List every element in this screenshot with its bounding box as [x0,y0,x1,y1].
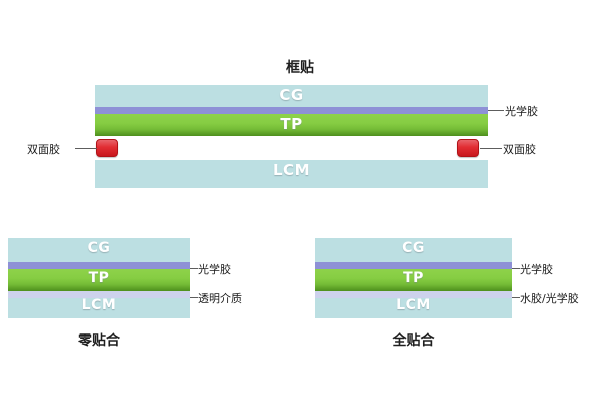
frame-layer-lcm [95,160,488,188]
leader-line-optical-adhesive-zero [190,268,198,269]
zero-bonding-caption: 零贴合 [8,330,190,350]
main-figure-title: 框贴 [0,57,600,77]
diagram-canvas: 框贴 CG TP LCM 光学胶 双面胶 双面胶 CG TP LCM 光学胶 透… [0,0,600,400]
callout-tape-right: 双面胶 [503,141,536,157]
callout-optical-adhesive-main: 光学胶 [505,103,538,119]
frame-layer-air-gap [95,136,488,160]
frame-layer-touch-panel [95,114,488,136]
full-layer-touch-panel [315,269,512,291]
leader-line-tape-left [75,148,97,149]
callout-tape-left: 双面胶 [27,141,60,157]
full-layer-water-adhesive [315,291,512,298]
zero-bonding-stack: CG TP LCM [8,238,190,318]
frame-bonding-stack: CG TP LCM [95,85,488,188]
zero-layer-cover-glass [8,238,190,262]
leader-line-water-adhesive-full [512,297,520,298]
callout-optical-adhesive-full: 光学胶 [520,261,553,277]
callout-water-adhesive-full: 水胶/光学胶 [520,290,579,306]
full-bonding-stack: CG TP LCM [315,238,512,318]
callout-optical-adhesive-zero: 光学胶 [198,261,231,277]
leader-line-tape-right [480,148,502,149]
leader-line-optical-adhesive-full [512,268,520,269]
zero-layer-transparent-medium [8,291,190,298]
zero-layer-optical-adhesive [8,262,190,269]
frame-layer-cover-glass [95,85,488,107]
zero-layer-lcm [8,298,190,318]
full-layer-lcm [315,298,512,318]
full-layer-optical-adhesive [315,262,512,269]
callout-transparent-medium-zero: 透明介质 [198,290,242,306]
leader-line-transparent-medium-zero [190,297,198,298]
frame-layer-optical-adhesive [95,107,488,114]
full-layer-cover-glass [315,238,512,262]
double-sided-tape-left [96,139,118,157]
leader-line-optical-adhesive-main [488,110,504,111]
zero-layer-touch-panel [8,269,190,291]
full-bonding-caption: 全贴合 [315,330,512,350]
double-sided-tape-right [457,139,479,157]
